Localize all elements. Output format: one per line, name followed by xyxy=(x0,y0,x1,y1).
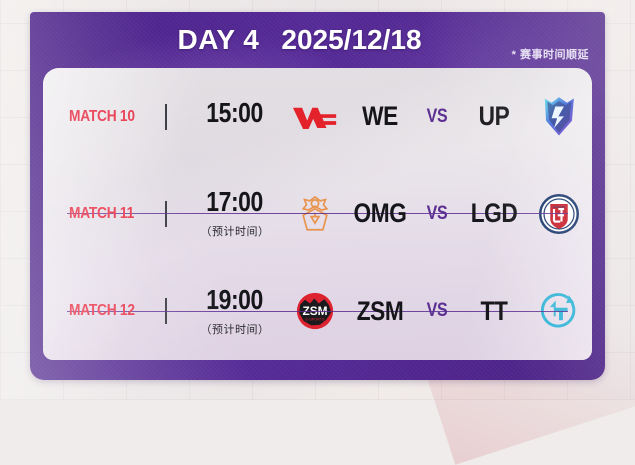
match-time: 15:00 xyxy=(207,99,264,127)
match-time: 17:00 xyxy=(207,188,264,216)
team-name-left: ZSM xyxy=(349,298,411,325)
match-rows: MATCH 10 15:00 WE VS xyxy=(43,68,592,360)
match-time-note: （预计时间） xyxy=(201,321,270,337)
match-label: MATCH 10 xyxy=(69,108,135,126)
we-logo xyxy=(287,91,343,143)
up-logo xyxy=(531,91,587,143)
match-time: 19:00 xyxy=(207,286,264,314)
teams-cell: WE VS UP xyxy=(287,91,592,143)
match-number-cell: MATCH 10 xyxy=(69,108,161,126)
svg-text:E-SPORTS: E-SPORTS xyxy=(305,318,325,322)
svg-text:GAMING: GAMING xyxy=(553,205,566,209)
table-row[interactable]: MATCH 10 15:00 WE VS xyxy=(43,68,592,165)
team-name-right: LGD xyxy=(463,200,525,227)
header-title-group: DAY 4 2025/12/18 xyxy=(177,26,421,54)
schedule-card: DAY 4 2025/12/18 * 赛事时间顺延 MATCH 10 15:00 xyxy=(30,12,605,380)
team-name-left: WE xyxy=(349,103,411,130)
row-separator-bar xyxy=(165,104,167,130)
match-label: MATCH 11 xyxy=(69,205,134,223)
date-label: 2025/12/18 xyxy=(281,26,421,54)
day-label: DAY 4 xyxy=(177,26,259,54)
matches-panel: MATCH 10 15:00 WE VS xyxy=(43,68,592,360)
match-time-note: （预计时间） xyxy=(201,223,270,239)
table-row[interactable]: MATCH 11 17:00 （预计时间） xyxy=(43,165,592,262)
table-row[interactable]: MATCH 12 19:00 （预计时间） ZSM E xyxy=(43,263,592,360)
schedule-poster: DAY 4 2025/12/18 * 赛事时间顺延 MATCH 10 15:00 xyxy=(0,0,635,400)
vs-label: VS xyxy=(420,106,454,128)
team-name-right: UP xyxy=(463,103,525,130)
vs-label: VS xyxy=(420,300,454,322)
match-label: MATCH 12 xyxy=(69,302,135,320)
team-name-right: TT xyxy=(463,298,525,325)
vs-label: VS xyxy=(420,203,454,225)
match-time-cell: 15:00 xyxy=(183,99,287,134)
schedule-note: * 赛事时间顺延 xyxy=(512,46,589,62)
team-name-left: OMG xyxy=(349,200,411,227)
